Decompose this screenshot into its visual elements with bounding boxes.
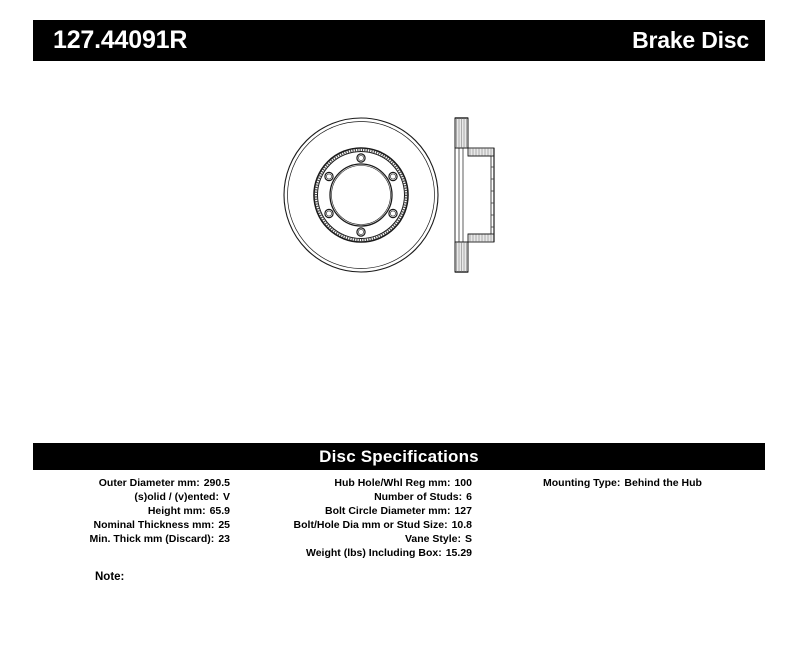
spec-value: 15.29 xyxy=(446,546,472,560)
spec-column-right: Mounting Type: Behind the Hub xyxy=(480,476,765,490)
disc-specifications-title: Disc Specifications xyxy=(319,448,479,465)
spec-value: 65.9 xyxy=(210,504,230,518)
spec-row: Min. Thick mm (Discard): 23 xyxy=(0,532,230,546)
spec-label: (s)olid / (v)ented: xyxy=(134,490,219,504)
spec-row: Number of Studs: 6 xyxy=(240,490,472,504)
spec-label: Mounting Type: xyxy=(543,476,620,490)
spec-row: Height mm: 65.9 xyxy=(0,504,230,518)
disc-specifications-bar: Disc Specifications xyxy=(33,443,765,470)
spec-value: Behind the Hub xyxy=(624,476,702,490)
spec-value: 10.8 xyxy=(452,518,472,532)
spec-label: Number of Studs: xyxy=(374,490,462,504)
spec-row: Bolt/Hole Dia mm or Stud Size: 10.8 xyxy=(240,518,472,532)
spec-label: Vane Style: xyxy=(405,532,461,546)
spec-value: 290.5 xyxy=(204,476,230,490)
note-label: Note: xyxy=(95,570,124,584)
spec-value: 23 xyxy=(218,532,230,546)
spec-row: Bolt Circle Diameter mm: 127 xyxy=(240,504,472,518)
rotor-side-section-view xyxy=(455,118,494,272)
spec-row: (s)olid / (v)ented: V xyxy=(0,490,230,504)
header-bar: 127.44091R Brake Disc xyxy=(33,20,765,61)
spec-label: Nominal Thickness mm: xyxy=(94,518,215,532)
product-type-title: Brake Disc xyxy=(632,29,749,52)
spec-label: Bolt Circle Diameter mm: xyxy=(325,504,450,518)
spec-row: Mounting Type: Behind the Hub xyxy=(480,476,765,490)
spec-label: Min. Thick mm (Discard): xyxy=(89,532,214,546)
spec-value: 6 xyxy=(466,490,472,504)
spec-label: Outer Diameter mm: xyxy=(99,476,200,490)
technical-drawing-area xyxy=(0,70,800,415)
spec-label: Hub Hole/Whl Reg mm: xyxy=(334,476,450,490)
spec-row: Nominal Thickness mm: 25 xyxy=(0,518,230,532)
spec-label: Weight (lbs) Including Box: xyxy=(306,546,442,560)
spec-row: Weight (lbs) Including Box: 15.29 xyxy=(240,546,472,560)
spec-row: Vane Style: S xyxy=(240,532,472,546)
spec-row: Hub Hole/Whl Reg mm: 100 xyxy=(240,476,472,490)
bolt-holes-inner xyxy=(326,155,395,234)
spec-label: Height mm: xyxy=(148,504,206,518)
spec-value: 127 xyxy=(454,504,472,518)
note-block: Note: xyxy=(95,570,129,584)
part-number: 127.44091R xyxy=(53,28,187,53)
spec-value: 100 xyxy=(454,476,472,490)
spec-value: S xyxy=(465,532,472,546)
rotor-face-view xyxy=(284,118,438,272)
spec-row: Outer Diameter mm: 290.5 xyxy=(0,476,230,490)
spec-label: Bolt/Hole Dia mm or Stud Size: xyxy=(294,518,448,532)
brake-disc-drawing xyxy=(280,95,530,295)
spec-column-left: Outer Diameter mm: 290.5 (s)olid / (v)en… xyxy=(0,476,230,546)
spec-value: 25 xyxy=(218,518,230,532)
spec-value: V xyxy=(223,490,230,504)
spec-column-middle: Hub Hole/Whl Reg mm: 100 Number of Studs… xyxy=(240,476,472,560)
bolt-holes xyxy=(325,154,397,236)
